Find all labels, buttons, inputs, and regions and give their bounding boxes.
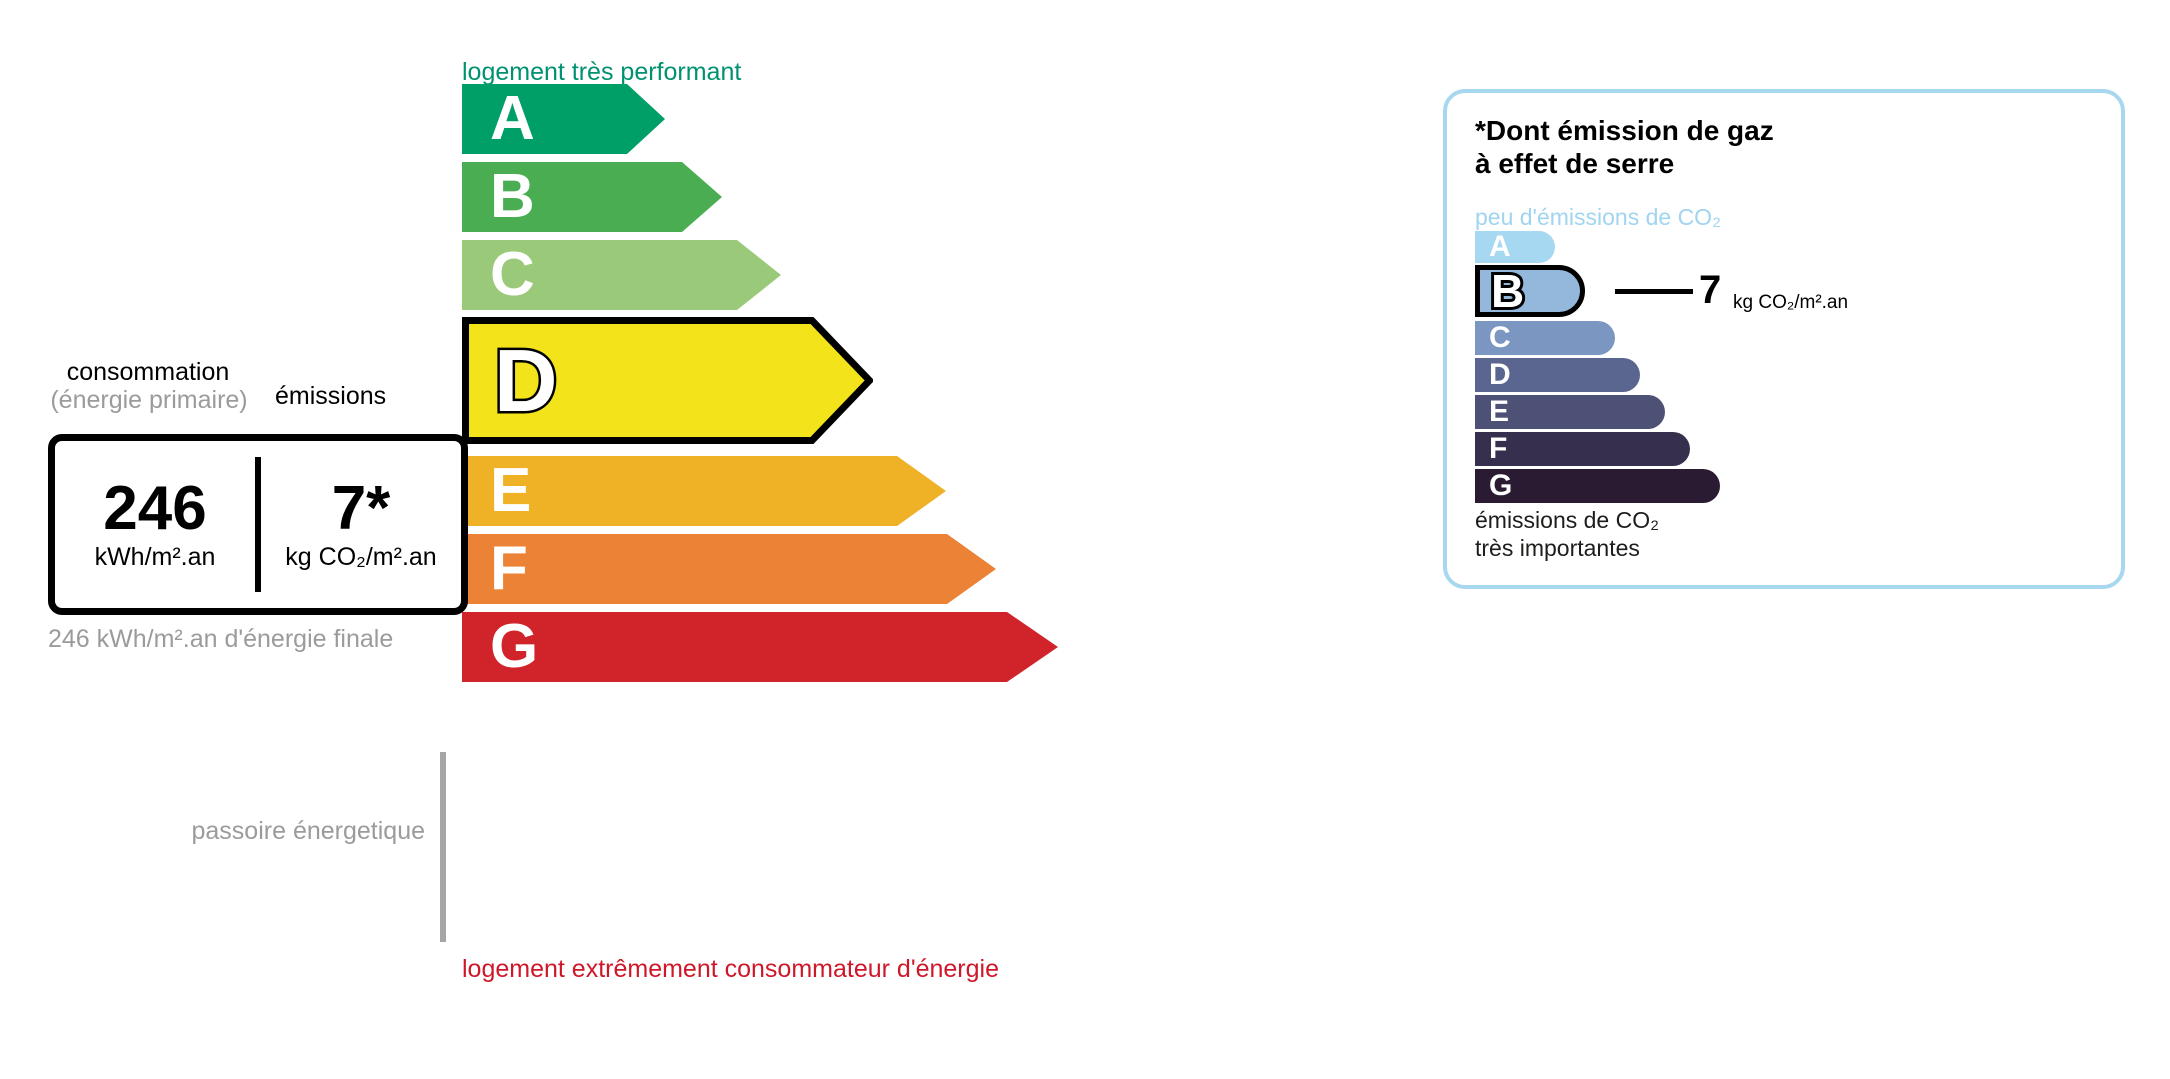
dpe-infographic: logement très performant ABCDEFG logemen… bbox=[0, 0, 2170, 1079]
co2-bar-letter-a: A bbox=[1489, 232, 1511, 262]
co2-bar-d: D bbox=[1475, 358, 1640, 392]
final-energy-note: 246 kWh/m².an d'énergie finale bbox=[48, 624, 393, 656]
emission-unit: kg CO₂/m².an bbox=[285, 543, 436, 572]
energy-performance-scale: logement très performant ABCDEFG logemen… bbox=[0, 0, 1300, 1079]
co2-top-caption: peu d'émissions de CO₂ bbox=[1475, 204, 1721, 231]
consumption-value: 246 bbox=[103, 477, 206, 541]
emission-cell: 7* kg CO₂/m².an bbox=[261, 441, 461, 608]
energy-bar-shape-e bbox=[462, 456, 946, 526]
energy-bar-g: G bbox=[462, 612, 1058, 682]
co2-bottom-caption: émissions de CO₂ très importantes bbox=[1475, 507, 1659, 562]
co2-bar-g: G bbox=[1475, 469, 1720, 503]
energy-bar-b: B bbox=[462, 162, 722, 232]
co2-bar-shape-a bbox=[1475, 231, 1555, 263]
co2-bar-letter-e: E bbox=[1489, 397, 1509, 427]
co2-bar-b: B bbox=[1475, 265, 1585, 317]
co2-bar-letter-g: G bbox=[1489, 471, 1512, 501]
co2-bar-letter-b: B bbox=[1491, 268, 1524, 314]
co2-panel-title: *Dont émission de gaz à effet de serre bbox=[1475, 115, 1774, 181]
co2-emissions-panel: *Dont émission de gaz à effet de serre p… bbox=[1443, 89, 2125, 589]
passoire-energetique-label: passoire énergetique bbox=[190, 816, 425, 848]
energy-bar-e: E bbox=[462, 456, 946, 526]
energy-bar-letter-e: E bbox=[490, 460, 531, 522]
energy-bar-c: C bbox=[462, 240, 781, 310]
energie-primaire-header: (énergie primaire) bbox=[30, 386, 268, 415]
energy-scale-top-caption: logement très performant bbox=[462, 58, 741, 87]
consumption-unit: kWh/m².an bbox=[95, 543, 216, 572]
co2-leader-line bbox=[1615, 289, 1693, 294]
energy-bar-letter-b: B bbox=[490, 166, 535, 228]
co2-bar-letter-f: F bbox=[1489, 434, 1507, 464]
co2-value-unit: kg CO₂/m².an bbox=[1733, 292, 1848, 314]
co2-bar-e: E bbox=[1475, 395, 1665, 429]
energy-bar-letter-c: C bbox=[490, 244, 535, 306]
co2-value: 7 bbox=[1699, 270, 1721, 310]
energy-bar-letter-g: G bbox=[490, 616, 538, 678]
consumption-cell: 246 kWh/m².an bbox=[55, 441, 255, 608]
energy-bar-shape-f bbox=[462, 534, 996, 604]
emission-value: 7* bbox=[332, 477, 391, 541]
energy-bar-f: F bbox=[462, 534, 996, 604]
passoire-energetique-marker-line bbox=[440, 752, 446, 942]
consommation-header: consommation bbox=[48, 358, 248, 387]
co2-bar-letter-c: C bbox=[1489, 323, 1511, 353]
energy-bar-a: A bbox=[462, 84, 665, 154]
energy-bar-d: D bbox=[462, 317, 873, 444]
energy-bar-letter-a: A bbox=[490, 88, 535, 150]
emissions-header: émissions bbox=[275, 382, 386, 411]
co2-bar-c: C bbox=[1475, 321, 1615, 355]
energy-bar-letter-f: F bbox=[490, 538, 528, 600]
co2-bar-letter-d: D bbox=[1489, 360, 1511, 390]
value-box: 246 kWh/m².an 7* kg CO₂/m².an bbox=[48, 434, 468, 615]
energy-bar-letter-d: D bbox=[494, 337, 558, 425]
co2-bar-a: A bbox=[1475, 231, 1555, 263]
co2-bar-f: F bbox=[1475, 432, 1690, 466]
energy-scale-bottom-caption: logement extrêmement consommateur d'éner… bbox=[462, 955, 999, 984]
energy-bar-shape-g bbox=[462, 612, 1058, 682]
